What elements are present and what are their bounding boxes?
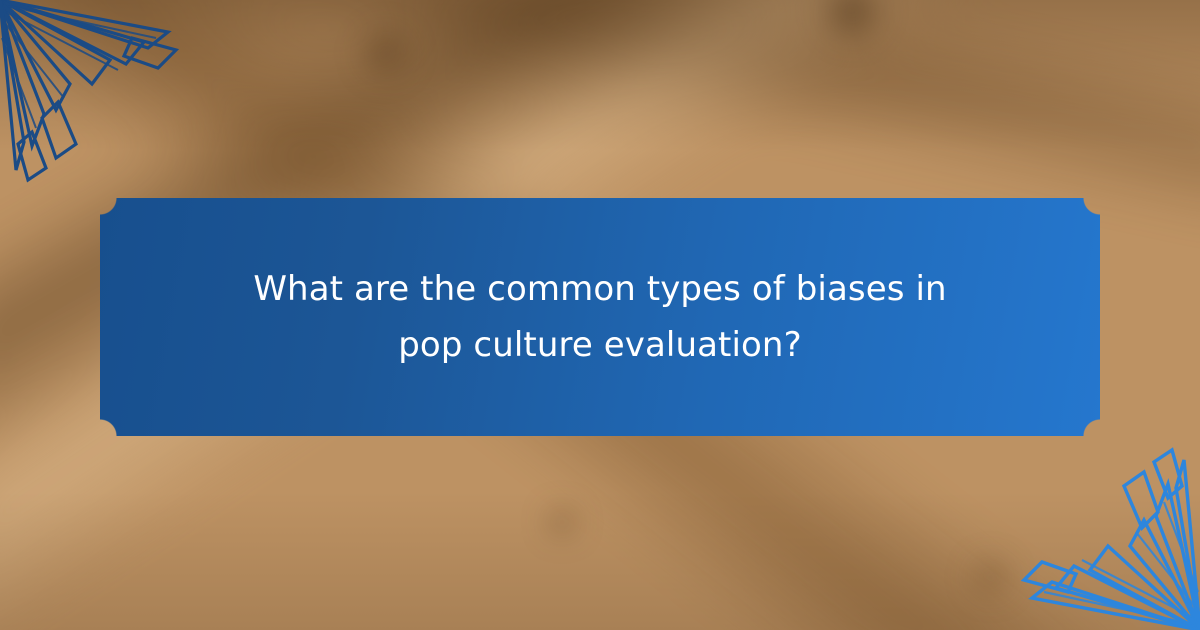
- question-banner: What are the common types of biases in p…: [100, 198, 1100, 436]
- question-text: What are the common types of biases in p…: [100, 261, 1100, 373]
- question-card-canvas: What are the common types of biases in p…: [0, 0, 1200, 630]
